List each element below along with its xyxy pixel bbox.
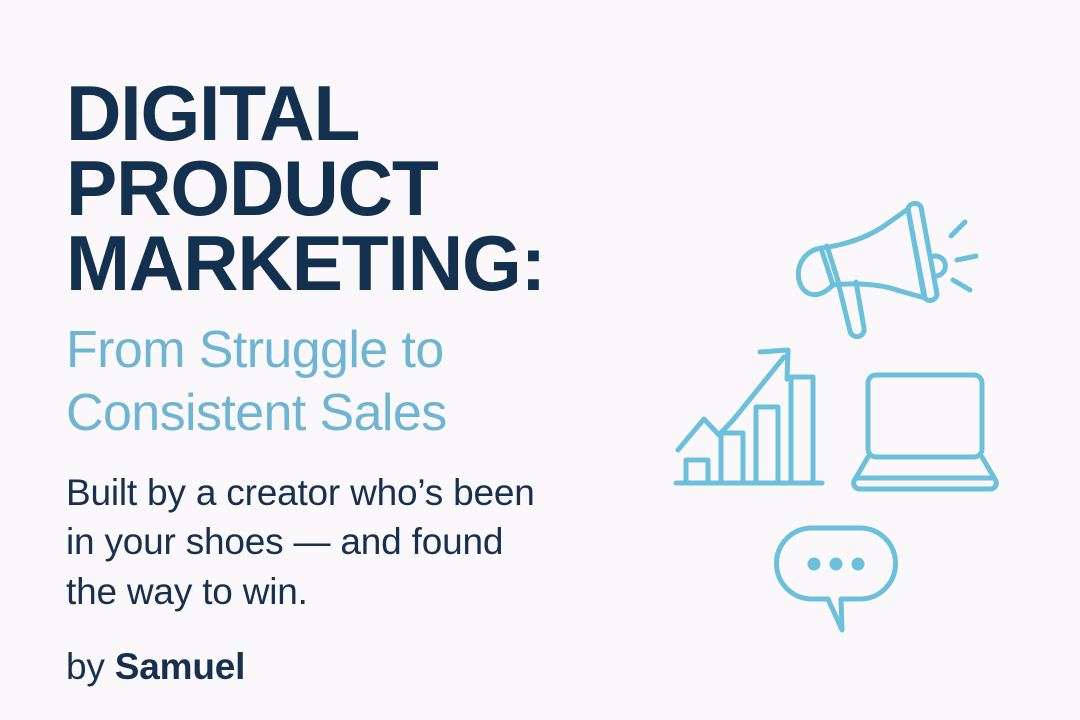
page-title: DIGITAL PRODUCT MARKETING: (66, 76, 657, 301)
byline: by Samuel (66, 647, 666, 688)
page-subtitle: From Struggle to Consistent Sales (66, 319, 666, 446)
byline-author: Samuel (115, 646, 245, 687)
speech-bubble-icon (772, 520, 902, 640)
chat-dot (852, 558, 865, 571)
icon-cluster (660, 185, 1060, 665)
body-copy: Built by a creator who’s been in your sh… (66, 468, 666, 618)
byline-prefix: by (66, 646, 115, 687)
chat-dot (808, 558, 821, 571)
poster-canvas: DIGITAL PRODUCT MARKETING: From Struggle… (0, 0, 1080, 720)
text-column: DIGITAL PRODUCT MARKETING: From Struggle… (66, 76, 666, 688)
chat-dot (830, 558, 843, 571)
laptop-icon (850, 365, 1000, 495)
growth-chart-icon (672, 335, 827, 495)
megaphone-icon (790, 190, 980, 340)
